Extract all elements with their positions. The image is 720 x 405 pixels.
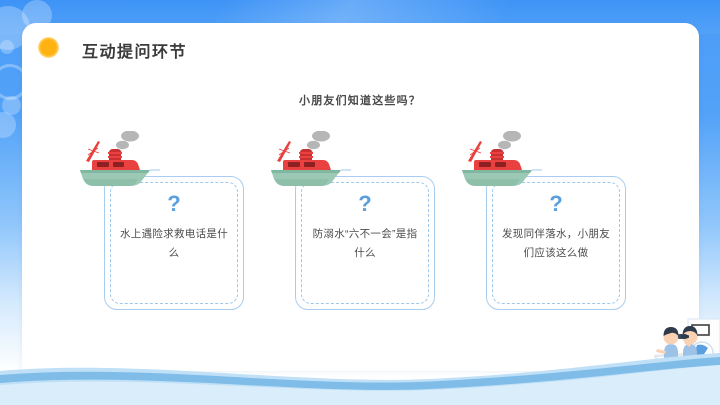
decorative-bubble [0,40,14,54]
subtitle: 小朋友们知道这些吗？ [0,92,720,108]
slide-root: 互动提问环节 小朋友们知道这些吗？ ? 水上遇险求救电话是什么 ? 防溺水“六不… [0,0,720,405]
page-title: 互动提问环节 [82,38,187,62]
sun-icon [38,37,59,58]
question-card-1[interactable]: ? 水上遇险求救电话是什么 [104,176,244,310]
tugboat-icon [267,131,351,189]
question-mark-icon: ? [487,193,625,215]
kids-boat-icon [600,309,720,405]
question-mark-icon: ? [105,193,243,215]
question-text: 发现同伴落水，小朋友们应该这么做 [501,225,611,263]
question-text: 防溺水“六不一会”是指什么 [310,225,420,263]
tugboat-icon [76,131,160,189]
tugboat-icon [458,131,542,189]
question-card-3[interactable]: ? 发现同伴落水，小朋友们应该这么做 [486,176,626,310]
question-mark-icon: ? [296,193,434,215]
question-text: 水上遇险求救电话是什么 [119,225,229,263]
question-card-2[interactable]: ? 防溺水“六不一会”是指什么 [295,176,435,310]
